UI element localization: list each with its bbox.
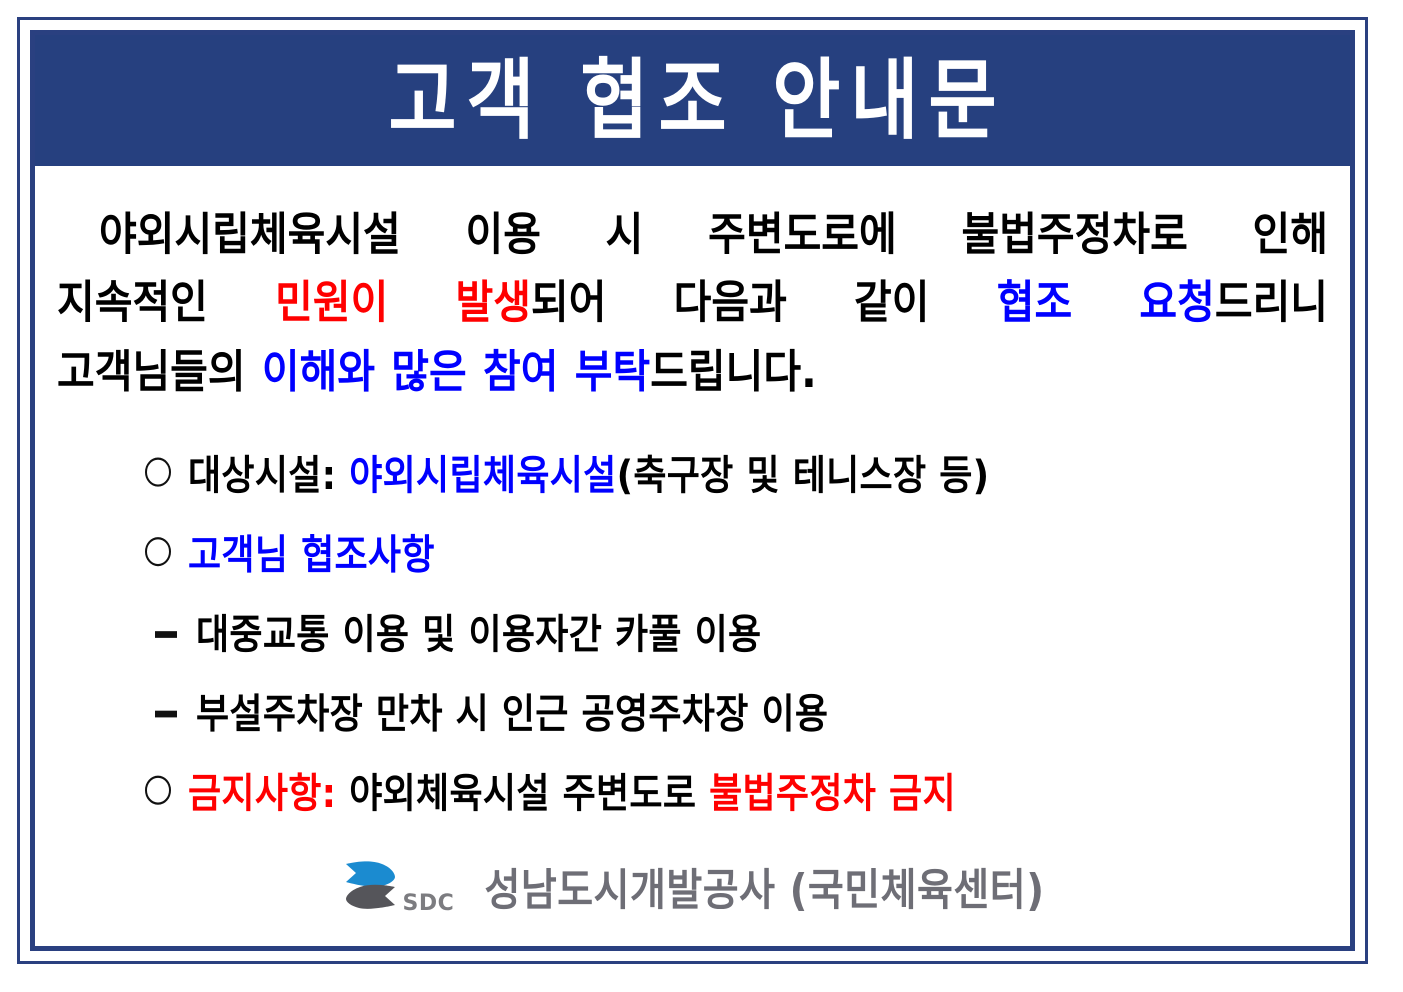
dash-bullet-icon [155, 711, 177, 718]
intro-line-2-seg1: 지속적인 [57, 276, 275, 329]
circle-bullet-icon [145, 537, 171, 566]
bullet-text-public-transit: 대중교통 이용 및 이용자간 카풀 이용 [196, 602, 761, 660]
sdc-logo-wordmark: SDC [402, 891, 454, 916]
bullet-1-blue: 고객님 협조사항 [188, 533, 435, 579]
bullet-4-red-label: 금지사항: [188, 771, 349, 817]
intro-line-3-blue: 이해와 많은 참여 부탁 [262, 345, 650, 398]
intro-line-3-seg3: 드립니다. [650, 345, 816, 398]
intro-line-1: 야외시립체육시설 이용 시 주변도로에 불법주정차로 인해 [57, 200, 1328, 269]
bullet-4-red-tail: 불법주정차 금지 [709, 771, 956, 817]
list-item: 부설주차장 만차 시 인근 공영주차장 이용 [145, 681, 1328, 739]
dash-bullet-icon [155, 631, 177, 638]
list-item: 대상시설: 야외시립체육시설(축구장 및 테니스장 등) [145, 443, 1328, 501]
list-item: 고객님 협조사항 [145, 522, 1328, 580]
poster-inner-frame: 고객 협조 안내문 야외시립체육시설 이용 시 주변도로에 불법주정차로 인해 … [30, 30, 1355, 951]
bullet-text-prohibition: 금지사항: 야외체육시설 주변도로 불법주정차 금지 [188, 761, 956, 819]
notice-poster: 고객 협조 안내문 야외시립체육시설 이용 시 주변도로에 불법주정차로 인해 … [17, 17, 1368, 964]
intro-line-3: 고객님들의 이해와 많은 참여 부탁드립니다. [57, 337, 1328, 406]
title-bar: 고객 협조 안내문 [35, 35, 1350, 166]
organization-name: 성남도시개발공사 (국민체육센터) [484, 856, 1044, 919]
list-item: 금지사항: 야외체육시설 주변도로 불법주정차 금지 [145, 761, 1328, 819]
intro-line-2-seg3: 되어 다음과 같이 [531, 276, 997, 329]
bullet-0-seg3: (축구장 및 테니스장 등) [617, 453, 990, 499]
bullet-0-blue: 야외시립체육시설 [349, 453, 616, 499]
list-item: 대중교통 이용 및 이용자간 카풀 이용 [145, 602, 1328, 660]
intro-line-1-text: 야외시립체육시설 이용 시 주변도로에 불법주정차로 인해 [99, 208, 1328, 261]
bullet-text-public-parking: 부설주차장 만차 시 인근 공영주차장 이용 [196, 681, 828, 739]
sdc-logo: SDC [340, 856, 448, 918]
intro-line-2-seg5: 드리니 [1215, 276, 1328, 329]
circle-bullet-icon [145, 776, 171, 805]
bullet-text-cooperation-heading: 고객님 협조사항 [188, 522, 435, 580]
page-title: 고객 협조 안내문 [378, 57, 1006, 144]
intro-line-2: 지속적인 민원이 발생되어 다음과 같이 협조 요청드리니 [57, 269, 1328, 338]
circle-bullet-icon [145, 457, 171, 486]
bullet-list: 대상시설: 야외시립체육시설(축구장 및 테니스장 등) 고객님 협조사항 대중… [57, 443, 1328, 819]
intro-paragraph: 야외시립체육시설 이용 시 주변도로에 불법주정차로 인해 지속적인 민원이 발… [57, 200, 1328, 406]
intro-line-2-red: 민원이 발생 [275, 276, 531, 329]
bullet-4-seg2: 야외체육시설 주변도로 [349, 771, 709, 817]
bullet-text-facility: 대상시설: 야외시립체육시설(축구장 및 테니스장 등) [188, 443, 989, 501]
footer: SDC 성남도시개발공사 (국민체육센터) [35, 856, 1350, 918]
body-area: 야외시립체육시설 이용 시 주변도로에 불법주정차로 인해 지속적인 민원이 발… [35, 166, 1350, 946]
intro-line-3-seg1: 고객님들의 [57, 345, 262, 398]
bullet-0-seg1: 대상시설: [188, 453, 349, 499]
intro-line-2-blue: 협조 요청 [997, 276, 1215, 329]
